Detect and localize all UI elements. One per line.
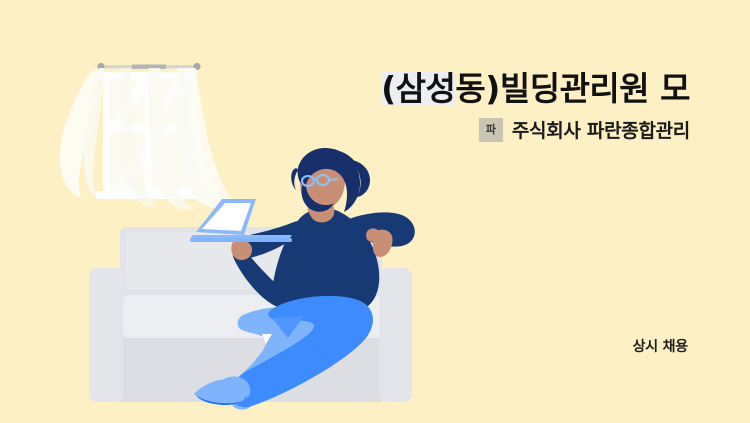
couch-armrest-left [89,268,123,402]
couch-armrest-right [379,268,412,402]
company-row[interactable]: 파 주식회사 파란종합관리 [240,116,690,143]
job-posting-card: (삼성동)빌딩관리원 모 파 주식회사 파란종합관리 상시 채용 [0,0,750,423]
couch-laptop-illustration [0,0,750,423]
status-badge: 상시 채용 [633,339,688,355]
posting-text-block: (삼성동)빌딩관리원 모 파 주식회사 파란종합관리 [240,72,690,143]
page-title-highlighted: (삼성 [381,72,455,105]
laptop-base-edge [190,238,292,242]
glasses-bridge [314,179,317,181]
recruitment-status-row: 상시 채용 [633,336,688,356]
posting-title-line[interactable]: (삼성동)빌딩관리원 모 [240,72,690,105]
company-logo-badge: 파 [479,118,503,142]
page-title-rest: 동)빌딩관리원 모 [455,72,690,105]
glasses-temple [329,179,338,180]
company-name: 주식회사 파란종합관리 [512,116,690,143]
